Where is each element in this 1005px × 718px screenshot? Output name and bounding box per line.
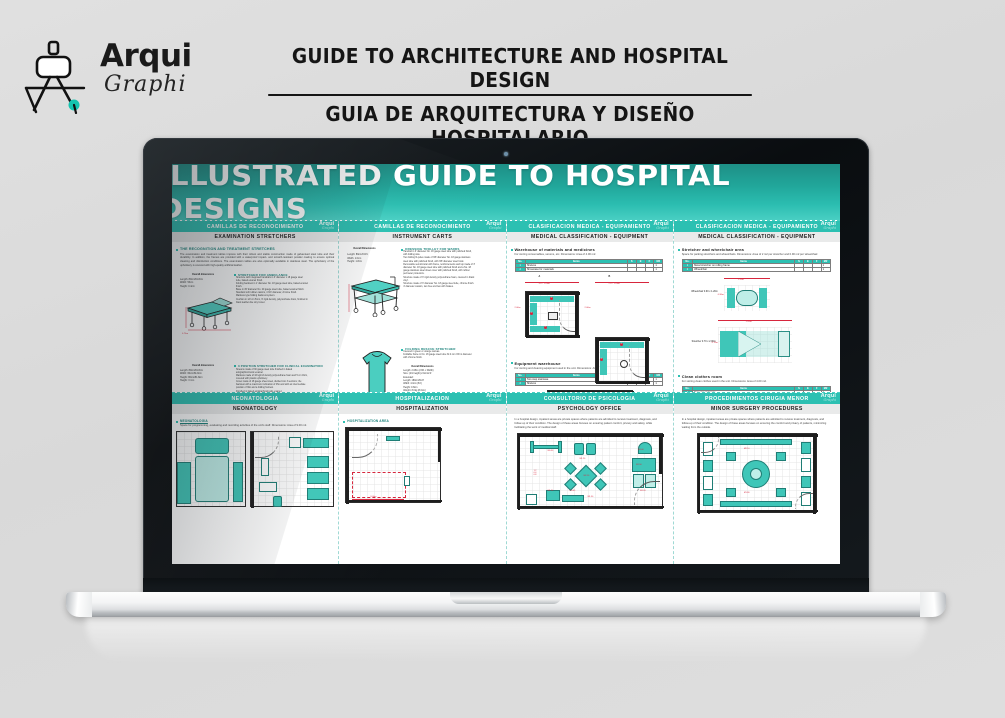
caption-stretcher: Stretcher 0.70 x 2.00m [682,340,716,343]
panel-subtitle: MEDICAL CLASSIFICATION - EQUIPMENT [507,232,673,242]
panel-subtitle: HOSPITALIZATION [339,404,505,414]
laptop-screen: ILLUSTRATED GUIDE TO HOSPITAL DESIGNS CA… [172,164,840,564]
plan-label-a: A [539,275,541,278]
dims-caption-2: Overall Dimensions [411,365,433,368]
panel-examination-stretchers[interactable]: CAMILLAS DE RECONOCIMIENTO ArquiGraphi E… [172,221,339,392]
dims-caption: Overall Dimensions [353,247,375,250]
wheelchair-plan [724,285,770,311]
section-heading-2: Equipment warehouse [515,361,561,366]
section-heading-row-2: Clean clothes room [678,374,836,379]
headline-english: GUIDE TO ARCHITECTURE AND HOSPITAL DESIG… [268,44,752,96]
bullet-dot-icon [678,249,680,251]
panel-header: NEONATOLOGIA ArquiGraphi [172,393,338,404]
panel-subtitle: MINOR SURGERY PROCEDURES [674,404,840,414]
panel-hospitalization[interactable]: HOSPITALIZACION ArquiGraphi HOSPITALIZAT… [339,393,506,564]
bullet-dot-icon [511,249,513,251]
dim-a: 3.0' / 1.00m [539,283,550,285]
stretcher-table: No. Items S E F M2 1 [682,259,831,272]
section-body: The examination and treatment tables imp… [180,253,334,268]
stretcher-plan [718,327,792,363]
hospitalization-plan: 3.00m [345,427,441,503]
dim-wheelchair-w: 0.90m [718,294,724,296]
watermark: ArquiGraphi [654,222,669,231]
stretcher-sketch-icon [182,293,234,331]
section-body: Space for programming, evaluating and re… [180,424,334,428]
panel-title-es: CONSULTORIO DE PSICOLOGIA [544,396,636,402]
section-body: Space for parking stretchers and wheelch… [682,253,836,257]
bullet-dot-icon [176,421,178,423]
section-heading: THE RECOGNITION AND TREATMENT STRETCHES [180,247,275,251]
materials-table: No. Items S E F M2 1 [515,259,664,272]
watermark: ArquiGraphi [654,394,669,403]
watermark: ArquiGraphi [319,394,334,403]
panel-header: CONSULTORIO DE PSICOLOGIA ArquiGraphi [507,393,673,404]
panel-body: Stretcher and wheelchair area Space for … [674,242,840,392]
clothes-table: No. Items S E F M2 1 [682,386,831,392]
neonatology-plan-left [176,431,246,507]
table-row: 2 Wheelchair 1 [682,267,830,271]
poster: ILLUSTRATED GUIDE TO HOSPITAL DESIGNS CA… [172,164,840,564]
panel-header: CLASIFICACION MEDICA - EQUIPAMIENTO Arqu… [507,221,673,232]
section-body: In a hospital design, inpatient areas ar… [515,418,665,429]
panel-medical-classification-1[interactable]: CLASIFICACION MEDICA - EQUIPAMIENTO Arqu… [507,221,674,392]
panel-subtitle: INSTRUMENT CARTS [339,232,505,242]
watermark: ArquiGraphi [821,394,836,403]
section-heading-row: THE RECOGNITION AND TREATMENT STRETCHES [176,247,334,251]
examination-table-sketch-icon [182,388,236,393]
bullet-dot-icon [234,365,236,367]
panel-minor-surgery[interactable]: PROCEDIMIENTOS CIRUGIA MENOR ArquiGraphi… [674,393,840,564]
brand-subtitle: Graphi [104,72,187,97]
section-heading-row: Stretcher and wheelchair area [678,247,836,252]
webcam-dot-icon [504,152,508,156]
dim-b: 2.0' / 1.00m [609,283,620,285]
subsection-heading-row-2: 3 POSITION STRETCHER FOR CLINICAL EXAMIN… [234,364,323,368]
plan-label-b: B [609,275,611,278]
panel-body: NEONATOLOGIA Space for programming, eval… [172,414,338,564]
brand-logo: Arqui Graphi [22,36,252,114]
floor-plan-b: 1 1 [595,337,649,383]
section-heading: Stretcher and wheelchair area [682,247,744,252]
panel-header: HOSPITALIZACION ArquiGraphi [339,393,505,404]
headline: GUIDE TO ARCHITECTURE AND HOSPITAL DESIG… [250,44,770,150]
section-heading: Warehouse of materials and medicines [515,247,595,252]
watermark: ArquiGraphi [319,222,334,231]
panel-body: In a hospital design, inpatient areas ar… [674,414,840,564]
instrument-cart-sketch-icon [347,269,403,317]
watermark: ArquiGraphi [821,222,836,231]
section-body-2: For storing clean clothes used in the un… [682,380,836,384]
panel-subtitle: EXAMINATION STRETCHERS [172,232,338,242]
laptop-front-notch [450,592,562,604]
spec-list: Structure with integrated handrails in 3… [236,277,308,305]
dims-list: Length: 89cm/0.8/1 Width: 1.0cm Height: … [347,253,367,264]
floor-plan-a: 1 1 2 [525,291,579,337]
section-heading-row: Warehouse of materials and medicines [511,247,669,252]
dimension-label: 0.70m [182,333,188,335]
panel-title-es: CAMILLAS DE RECONOCIMIENTO [207,224,304,230]
laptop-device: ILLUSTRATED GUIDE TO HOSPITAL DESIGNS CA… [143,138,869,600]
panel-medical-classification-2[interactable]: CLASIFICACION MEDICA - EQUIPAMIENTO Arqu… [674,221,840,392]
compass-divider-icon [22,38,94,114]
dim-stretcher-len: 2.00m [746,321,752,323]
bullet-dot-icon [678,375,680,377]
bullet-dot-icon [176,249,178,251]
watermark: ArquiGraphi [486,222,501,231]
panel-title-es: CLASIFICACION MEDICA - EQUIPAMIENTO [696,224,818,230]
section-body: For storing consumables, serums, etc. Di… [515,253,669,257]
panel-header: PROCEDIMIENTOS CIRUGIA MENOR ArquiGraphi [674,393,840,404]
table-row: 1 Two step staircase 1 [682,390,830,392]
psychology-office-plan: M0.90 M1.20 M2.10 M1.00 M1.50 M1.20 1.20… [517,433,663,509]
dims-caption-2: Overall dimensions [192,364,214,367]
section-heading-2: Clean clothes room [682,374,722,379]
section-heading: HOSPITALIZATION AREA [347,419,389,423]
panel-psychology-office[interactable]: CONSULTORIO DE PSICOLOGIA ArquiGraphi PS… [507,393,674,564]
section-heading: NEONATOLOGIA [180,419,208,423]
dim-wheelchair-len: 1.20m [738,279,744,281]
subsection-heading-2: 3 POSITION STRETCHER FOR CLINICAL EXAMIN… [238,364,323,368]
panel-title-es: CLASIFICACION MEDICA - EQUIPAMIENTO [528,224,650,230]
panel-instrument-carts[interactable]: CAMILLAS DE RECONOCIMIENTO ArquiGraphi I… [339,221,506,392]
panel-subtitle: NEONATOLOGY [172,404,338,414]
section-body: In a hospital design, inpatient areas ar… [682,418,832,429]
dim-stretcher-w: 0.70m [712,342,718,344]
panel-subtitle: MEDICAL CLASSIFICATION - EQUIPMENT [674,232,840,242]
spec-list-2: Covered in green or orange canvas. Folda… [403,351,475,361]
spec-list: Handrail in 3' diameter No. 18 gauge ste… [403,251,475,289]
panel-body: HOSPITALIZATION AREA [339,414,505,564]
panel-title-es: CAMILLAS DE RECONOCIMIENTO [374,224,471,230]
panel-header: CLASIFICACION MEDICA - EQUIPAMIENTO Arqu… [674,221,840,232]
floor-plan-equipment: 1 2 [547,390,633,392]
dims-list-2: Length: 80cm/81.8cm Width: 60cm/81.8cm H… [180,369,203,383]
panel-subtitle: PSYCHOLOGY OFFICE [507,404,673,414]
neonatology-plan-right [250,431,334,507]
surgical-gown-sketch-icon [355,349,399,392]
laptop-reflection [86,617,926,663]
dims-list: Length: 80cm/81.8cm Width: 53cm Height: … [180,278,203,289]
panel-header: CAMILLAS DE RECONOCIMIENTO ArquiGraphi [172,221,338,232]
poster-row-top: CAMILLAS DE RECONOCIMIENTO ArquiGraphi E… [172,220,840,392]
panel-body: In a hospital design, inpatient areas ar… [507,414,673,564]
panel-title-es: PROCEDIMIENTOS CIRUGIA MENOR [705,396,809,402]
laptop-edge-left [66,592,92,617]
poster-title-bar: ILLUSTRATED GUIDE TO HOSPITAL DESIGNS [172,164,840,220]
panel-neonatology[interactable]: NEONATOLOGIA ArquiGraphi NEONATOLOGY NEO… [172,393,339,564]
section-heading-row: HOSPITALIZATION AREA [343,419,501,423]
watermark: ArquiGraphi [486,394,501,403]
poster-title-text: ILLUSTRATED GUIDE TO HOSPITAL DESIGNS [172,164,840,225]
dims-caption: Overall dimensions [192,273,214,276]
bullet-dot-icon [511,362,513,364]
minor-surgery-plan: M2.10 M1.80 [697,433,817,513]
panel-header: CAMILLAS DE RECONOCIMIENTO ArquiGraphi [339,221,505,232]
bullet-dot-icon [343,421,345,423]
panel-body: THE RECOGNITION AND TREATMENT STRETCHES … [172,242,338,392]
section-heading-row: NEONATOLOGIA [176,419,334,423]
poster-row-bottom: NEONATOLOGIA ArquiGraphi NEONATOLOGY NEO… [172,392,840,564]
brand-name: Arqui [100,38,192,74]
panel-title-es: HOSPITALIZACION [395,396,449,402]
caption-wheelchair: Wheelchair 0.90 x 1.20m [684,290,718,293]
spec-list-2: Streams made of 30 gauge steel tube fini… [236,369,308,393]
table-row: 2 Showcase for materials 1 [515,267,663,271]
panel-body: DRESSING TROLLEY FOR WARDS Handrail in 3… [339,242,505,392]
page-root: Arqui Graphi GUIDE TO ARCHITECTURE AND H… [0,0,1005,718]
panel-body: Warehouse of materials and medicines For… [507,242,673,392]
dims-list-2: Length: 2.08m (2.8/1 x Width) Size: (2/1… [403,370,433,392]
panel-title-es: NEONATOLOGIA [231,396,278,402]
laptop-edge-right [920,592,946,617]
